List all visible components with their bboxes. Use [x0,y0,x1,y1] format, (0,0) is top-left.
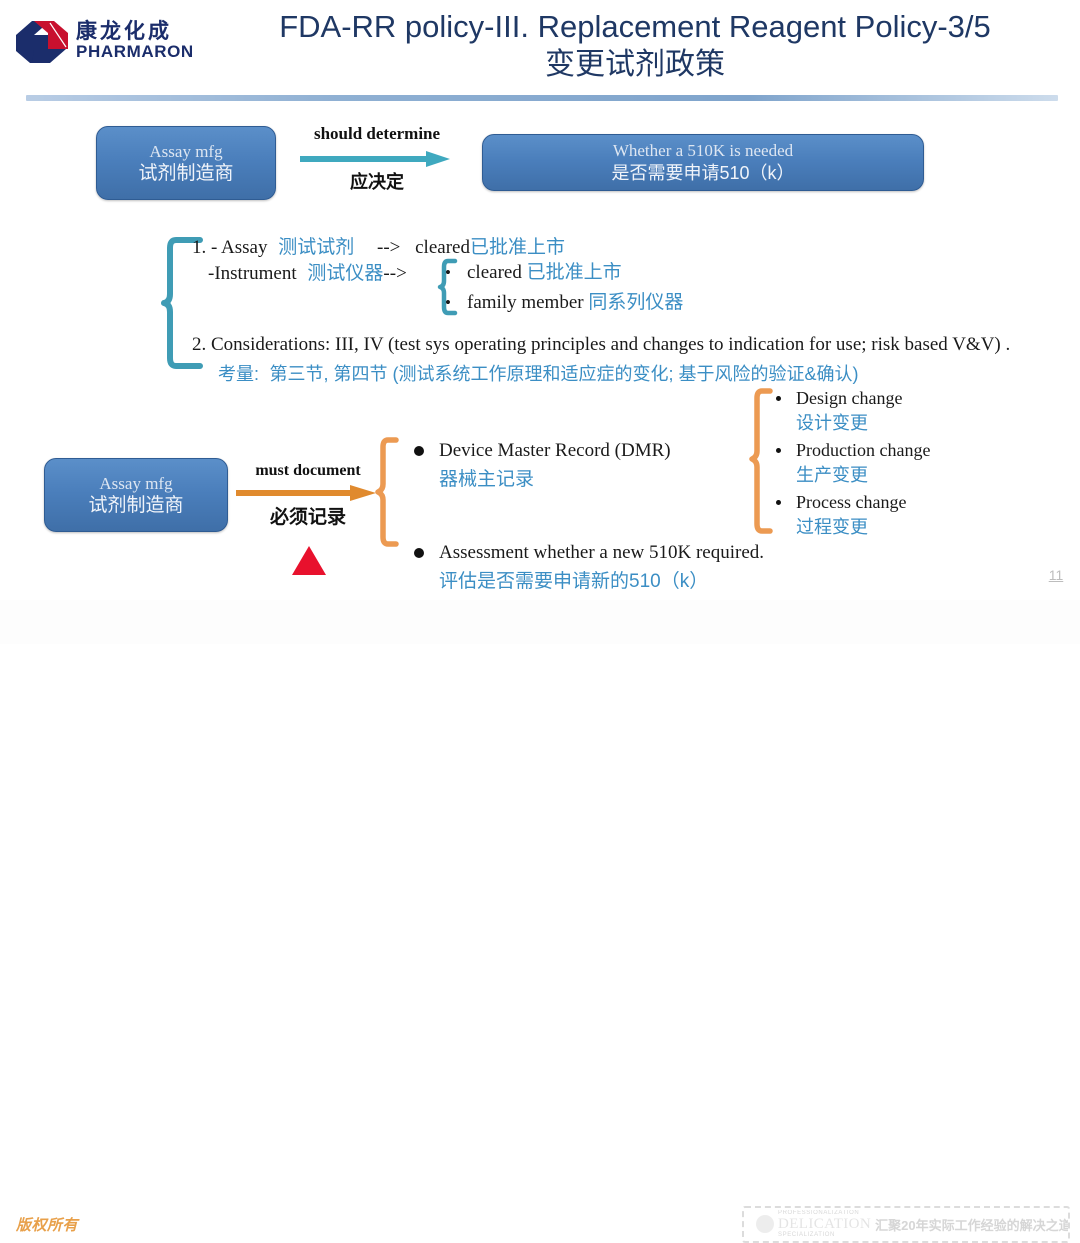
item1-assay-result-cn: 已批准上市 [470,237,565,258]
must-document-label-cn: 必须记录 [228,502,388,529]
item1-sub-bullet-list: •cleared 已批准上市 •family member 同系列仪器 [445,258,683,318]
item2-considerations-line: 2. Considerations: III, IV (test sys ope… [192,334,1010,356]
dmr-en: Device Master Record (DMR) [439,440,671,461]
item1-instrument-arrow: --> [383,263,406,284]
watermark-badge: PROFESSIONALIZATION DELICATION SPECIALIZ… [742,1206,1070,1243]
design-change-cn: 设计变更 [796,409,1036,435]
item1-assay-cn: 测试试剂 [278,237,354,258]
red-triangle-marker-icon [292,546,326,575]
orange-brace-right-icon [748,387,774,535]
logo-english-name: PHARMARON [76,42,194,62]
item1-assay-line: 1. - Assay 测试试剂 --> cleared已批准上市 [192,232,565,259]
assessment-en: Assessment whether a new 510K required. [439,542,764,563]
assay-mfg-bottom-en: Assay mfg [99,473,172,494]
bullet-dot-icon: • [445,288,467,318]
should-determine-arrow-group: should determine 应决定 [282,124,472,204]
whether-510k-cn: 是否需要申请510（k） [611,161,794,185]
item1-instrument-line: -Instrument 测试仪器--> [208,258,407,285]
bullet-dot-icon [776,500,781,505]
bullet-dot-icon [776,396,781,401]
orange-brace-left-icon [374,436,400,548]
bullet-dot-icon [776,448,781,453]
item1-instrument-en: -Instrument [208,263,297,284]
whether-510k-en: Whether a 510K is needed [613,140,793,161]
assay-mfg-top-en: Assay mfg [149,141,222,162]
assessment-cn: 评估是否需要申请新的510（k） [439,566,764,593]
header-divider [26,95,1058,101]
bullet-dot-icon [414,548,424,558]
change-item-production: Production change 生产变更 [776,440,1036,487]
must-document-label-en: must document [228,462,388,480]
production-change-en: Production change [796,440,1036,461]
watermark-chinese-text: 汇聚20年实际工作经验的解决之道 [875,1215,1070,1234]
item2-number: 2. [192,334,206,355]
dmr-cn: 器械主记录 [439,464,671,491]
bullet-dot-icon: • [445,258,467,288]
slide-title-line-2: 变更试剂政策 [195,46,1075,84]
design-change-en: Design change [796,388,1036,409]
watermark-circle-icon [756,1215,774,1233]
watermark-small-bottom: SPECIALIZATION [778,1232,871,1239]
slide-title: FDA-RR policy-III. Replacement Reagent P… [195,8,1075,84]
item2-cn-label: 考量: [218,364,259,384]
must-document-arrow-group: must document 必须记录 [228,462,388,582]
item1-sub-bullet-1: •cleared 已批准上市 [445,258,683,288]
watermark-text-stack: PROFESSIONALIZATION DELICATION SPECIALIZ… [778,1210,871,1239]
slide-title-line-1: FDA-RR policy-III. Replacement Reagent P… [195,8,1075,46]
item1-number: 1. [192,237,206,258]
item1-assay-arrow: --> [377,237,400,258]
watermark-main-text: DELICATION [778,1217,871,1232]
slide-header: 康龙化成 PHARMARON FDA-RR policy-III. Replac… [0,0,1080,100]
item1-instrument-cn: 测试仪器 [307,263,383,284]
should-determine-label-cn: 应决定 [282,168,472,194]
change-item-process: Process change 过程变更 [776,492,1036,539]
sub-bullet-2-en: family member [467,292,584,313]
must-document-arrow-icon [234,484,382,502]
copyright-notice: 版权所有 [16,1214,78,1235]
bullet-device-master-record: Device Master Record (DMR) 器械主记录 [414,440,671,491]
process-change-cn: 过程变更 [796,513,1036,539]
whether-510k-needed-box: Whether a 510K is needed 是否需要申请510（k） [482,134,924,191]
item1-assay-en: - Assay [211,237,267,258]
sub-bullet-1-cn: 已批准上市 [527,262,622,283]
assay-mfg-box-bottom: Assay mfg 试剂制造商 [44,458,228,532]
change-type-list: Design change 设计变更 Production change 生产变… [776,388,1036,544]
assay-mfg-box-top: Assay mfg 试剂制造商 [96,126,276,200]
sub-bullet-1-en: cleared [467,262,522,283]
slide-page-number: 11 [1044,567,1068,583]
production-change-cn: 生产变更 [796,461,1036,487]
slide-footer: 版权所有 PROFESSIONALIZATION DELICATION SPEC… [0,600,1080,644]
item1-assay-result-en: cleared [415,237,470,258]
assay-mfg-top-cn: 试剂制造商 [138,162,233,186]
item2-considerations-cn-line: 考量: 第三节, 第四节 (测试系统工作原理和适应症的变化; 基于风险的验证&确… [218,360,859,386]
should-determine-arrow-icon [298,149,458,169]
item1-sub-bullet-2: •family member 同系列仪器 [445,288,683,318]
item2-cn-body: 第三节, 第四节 (测试系统工作原理和适应症的变化; 基于风险的验证&确认) [270,364,859,384]
logo-chinese-name: 康龙化成 [76,15,172,45]
bullet-dot-icon [414,446,424,456]
pharmaron-logo-mark [14,19,70,65]
watermark-small-top: PROFESSIONALIZATION [778,1210,871,1217]
pharmaron-logo: 康龙化成 PHARMARON [14,13,194,69]
should-determine-label-en: should determine [282,124,472,144]
change-item-design: Design change 设计变更 [776,388,1036,435]
process-change-en: Process change [796,492,1036,513]
sub-bullet-2-cn: 同系列仪器 [588,292,683,313]
bullet-assessment-510k: Assessment whether a new 510K required. … [414,542,764,593]
assay-mfg-bottom-cn: 试剂制造商 [88,494,183,518]
item2-en: Considerations: III, IV (test sys operat… [211,334,1010,355]
